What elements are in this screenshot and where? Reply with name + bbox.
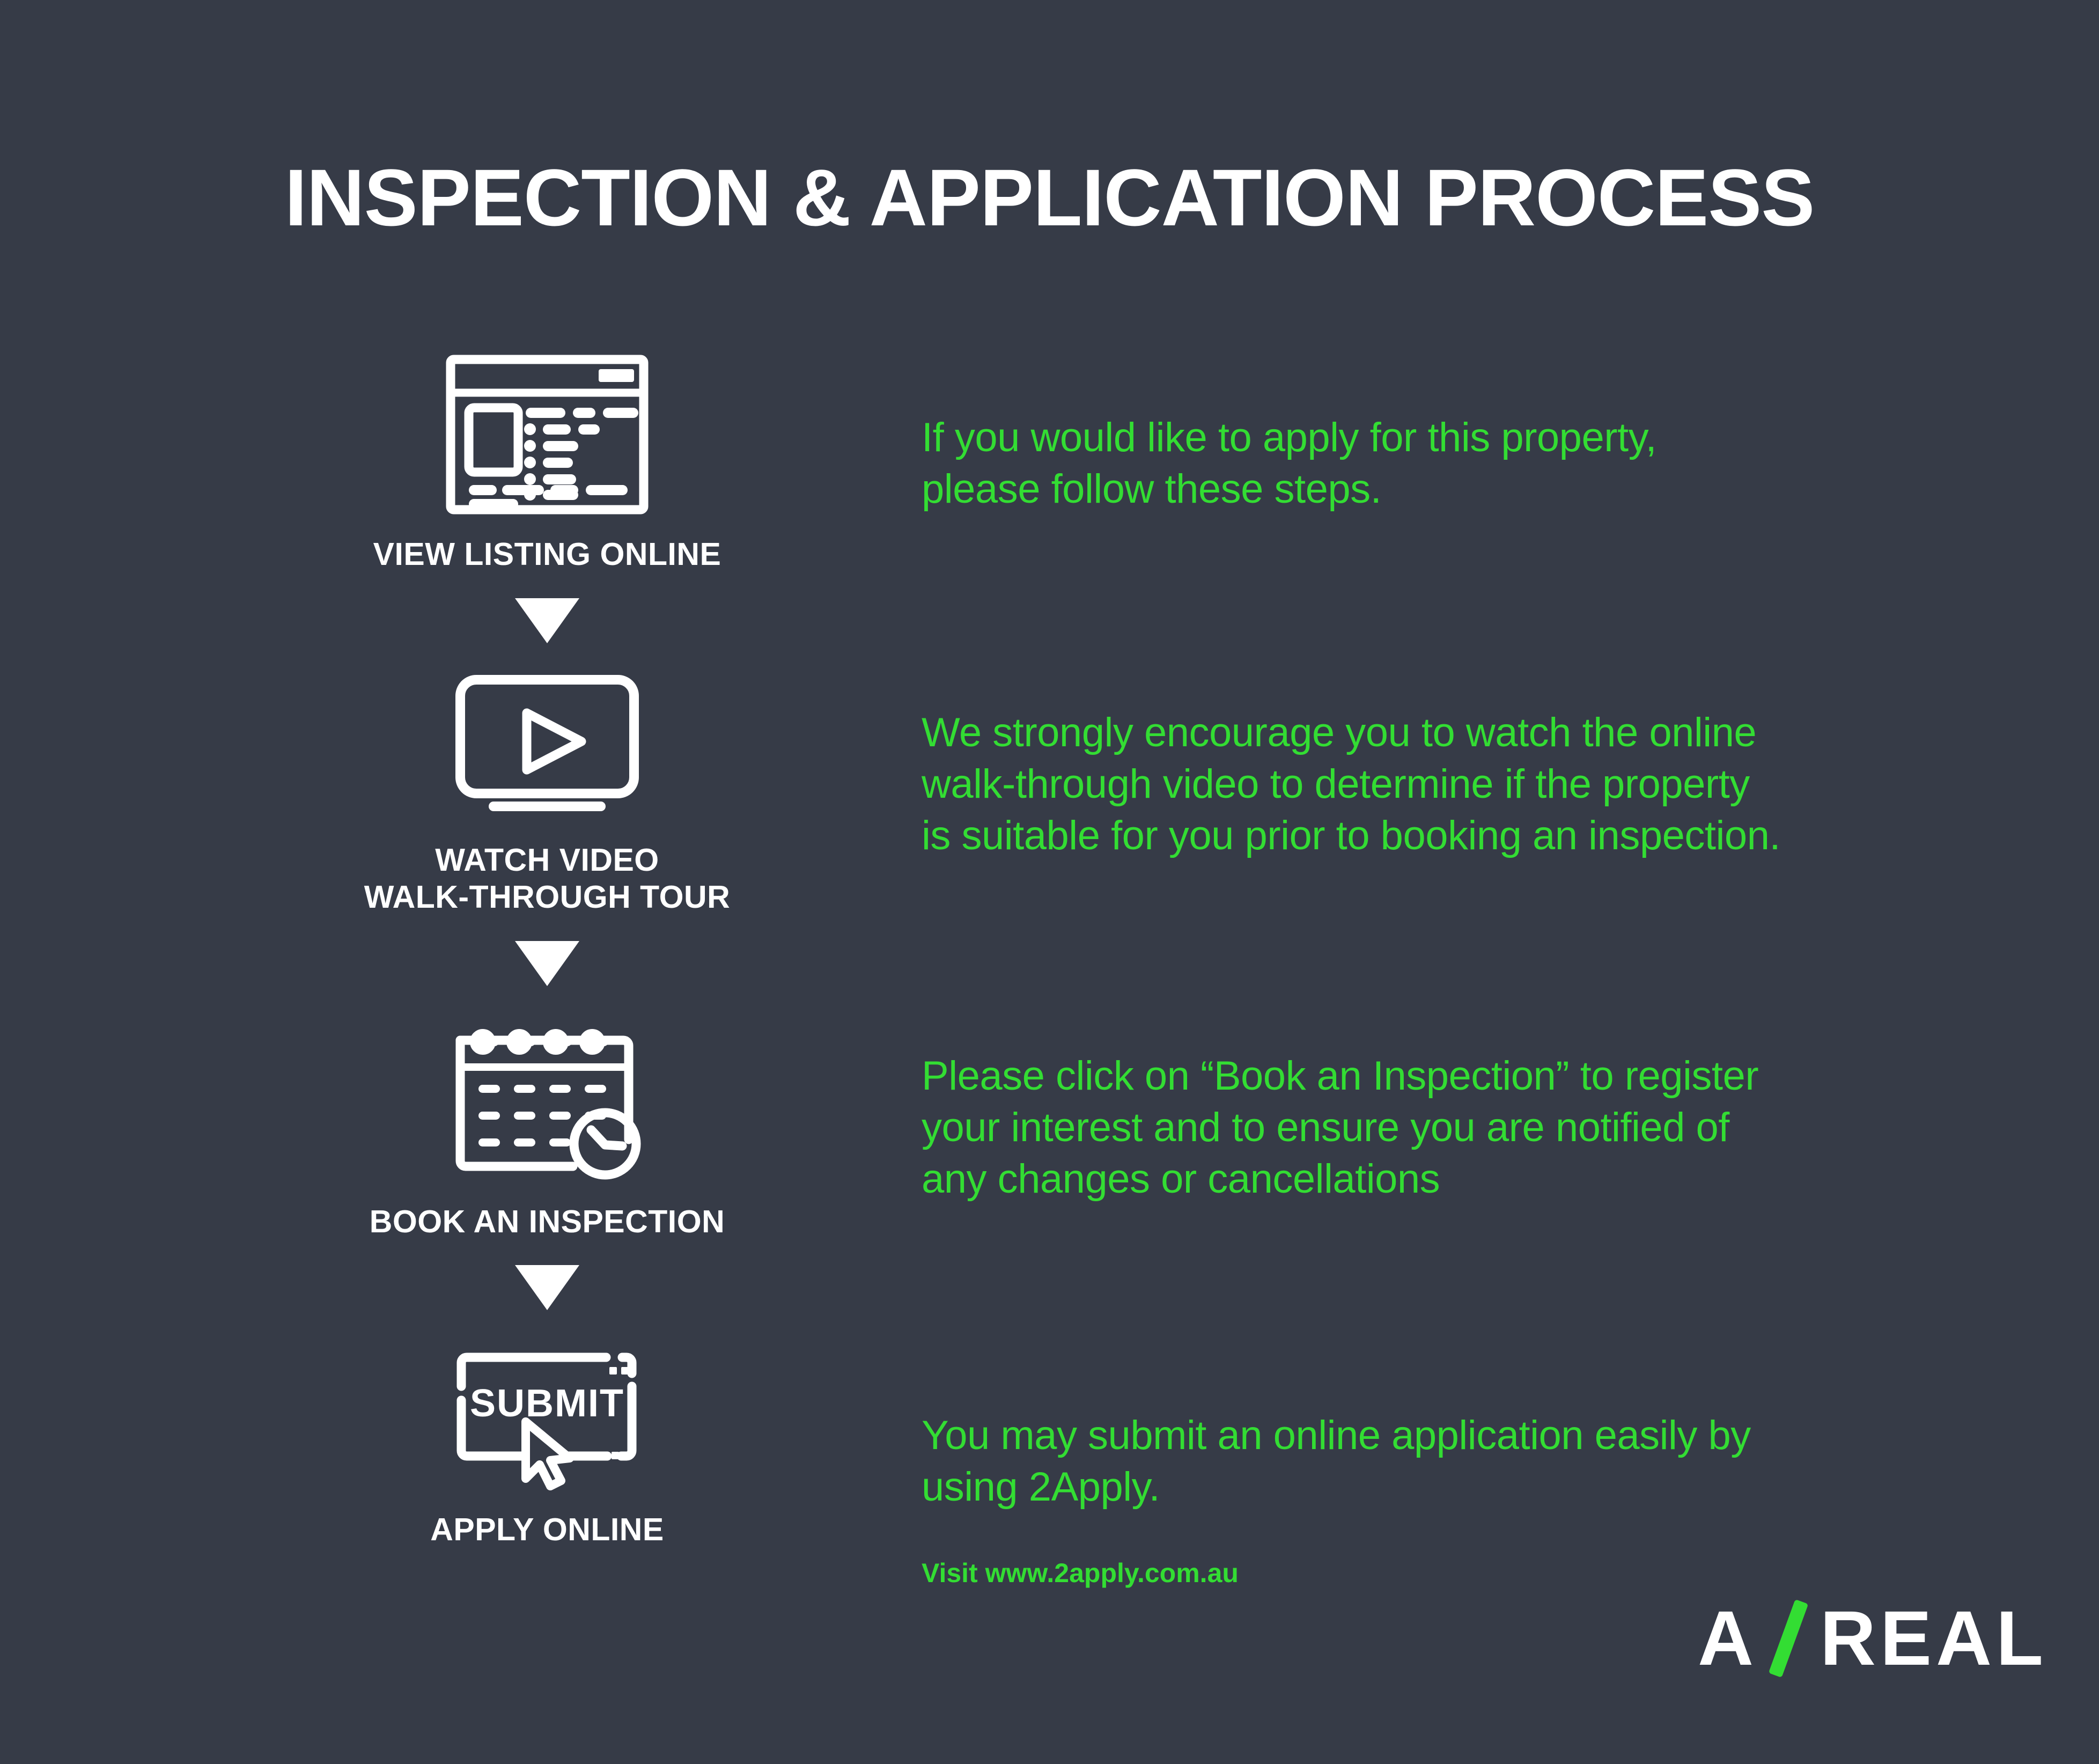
poster-canvas: INSPECTION & APPLICATION PROCESS — [0, 0, 2099, 1764]
flow-arrow-down-icon — [515, 598, 579, 643]
flow-arrow-down-icon — [515, 941, 579, 986]
submit-button-cursor-icon: SUBMIT — [445, 1335, 649, 1493]
visit-website-link[interactable]: Visit www.2apply.com.au — [922, 1557, 1239, 1589]
note-watch-video: We strongly encourage you to watch the o… — [922, 707, 1941, 861]
step-label-book-inspection: BOOK AN INSPECTION — [370, 1203, 725, 1241]
step-label-view-listing: VIEW LISTING ONLINE — [373, 536, 721, 574]
step-book-inspection: BOOK AN INSPECTION — [370, 1011, 725, 1241]
brand-logo: A REAL — [1698, 1600, 2048, 1677]
listing-window-icon — [445, 354, 649, 518]
video-monitor-play-icon — [445, 668, 649, 824]
note-view-listing: If you would like to apply for this prop… — [922, 412, 1887, 515]
submit-icon-text: SUBMIT — [470, 1382, 624, 1425]
step-view-listing: VIEW LISTING ONLINE — [373, 354, 721, 574]
logo-slash-icon — [1765, 1600, 1810, 1677]
step-label-watch-video: WATCH VIDEO WALK-THROUGH TOUR — [364, 842, 731, 916]
note-book-inspection: Please click on “Book an Inspection” to … — [922, 1050, 1898, 1204]
step-watch-video: WATCH VIDEO WALK-THROUGH TOUR — [364, 668, 731, 916]
page-title: INSPECTION & APPLICATION PROCESS — [0, 156, 2099, 240]
logo-word-real: REAL — [1820, 1600, 2048, 1677]
calendar-clock-icon — [445, 1011, 649, 1185]
flow-arrow-down-icon — [515, 1265, 579, 1310]
step-apply-online: SUBMIT APPLY ONLINE — [430, 1335, 664, 1549]
step-label-apply-online: APPLY ONLINE — [430, 1511, 664, 1549]
process-flow: VIEW LISTING ONLINE WATCH VIDEO WALK-THR… — [252, 354, 842, 1549]
note-apply-online: You may submit an online application eas… — [922, 1410, 1887, 1513]
logo-letter-a: A — [1698, 1600, 1758, 1677]
